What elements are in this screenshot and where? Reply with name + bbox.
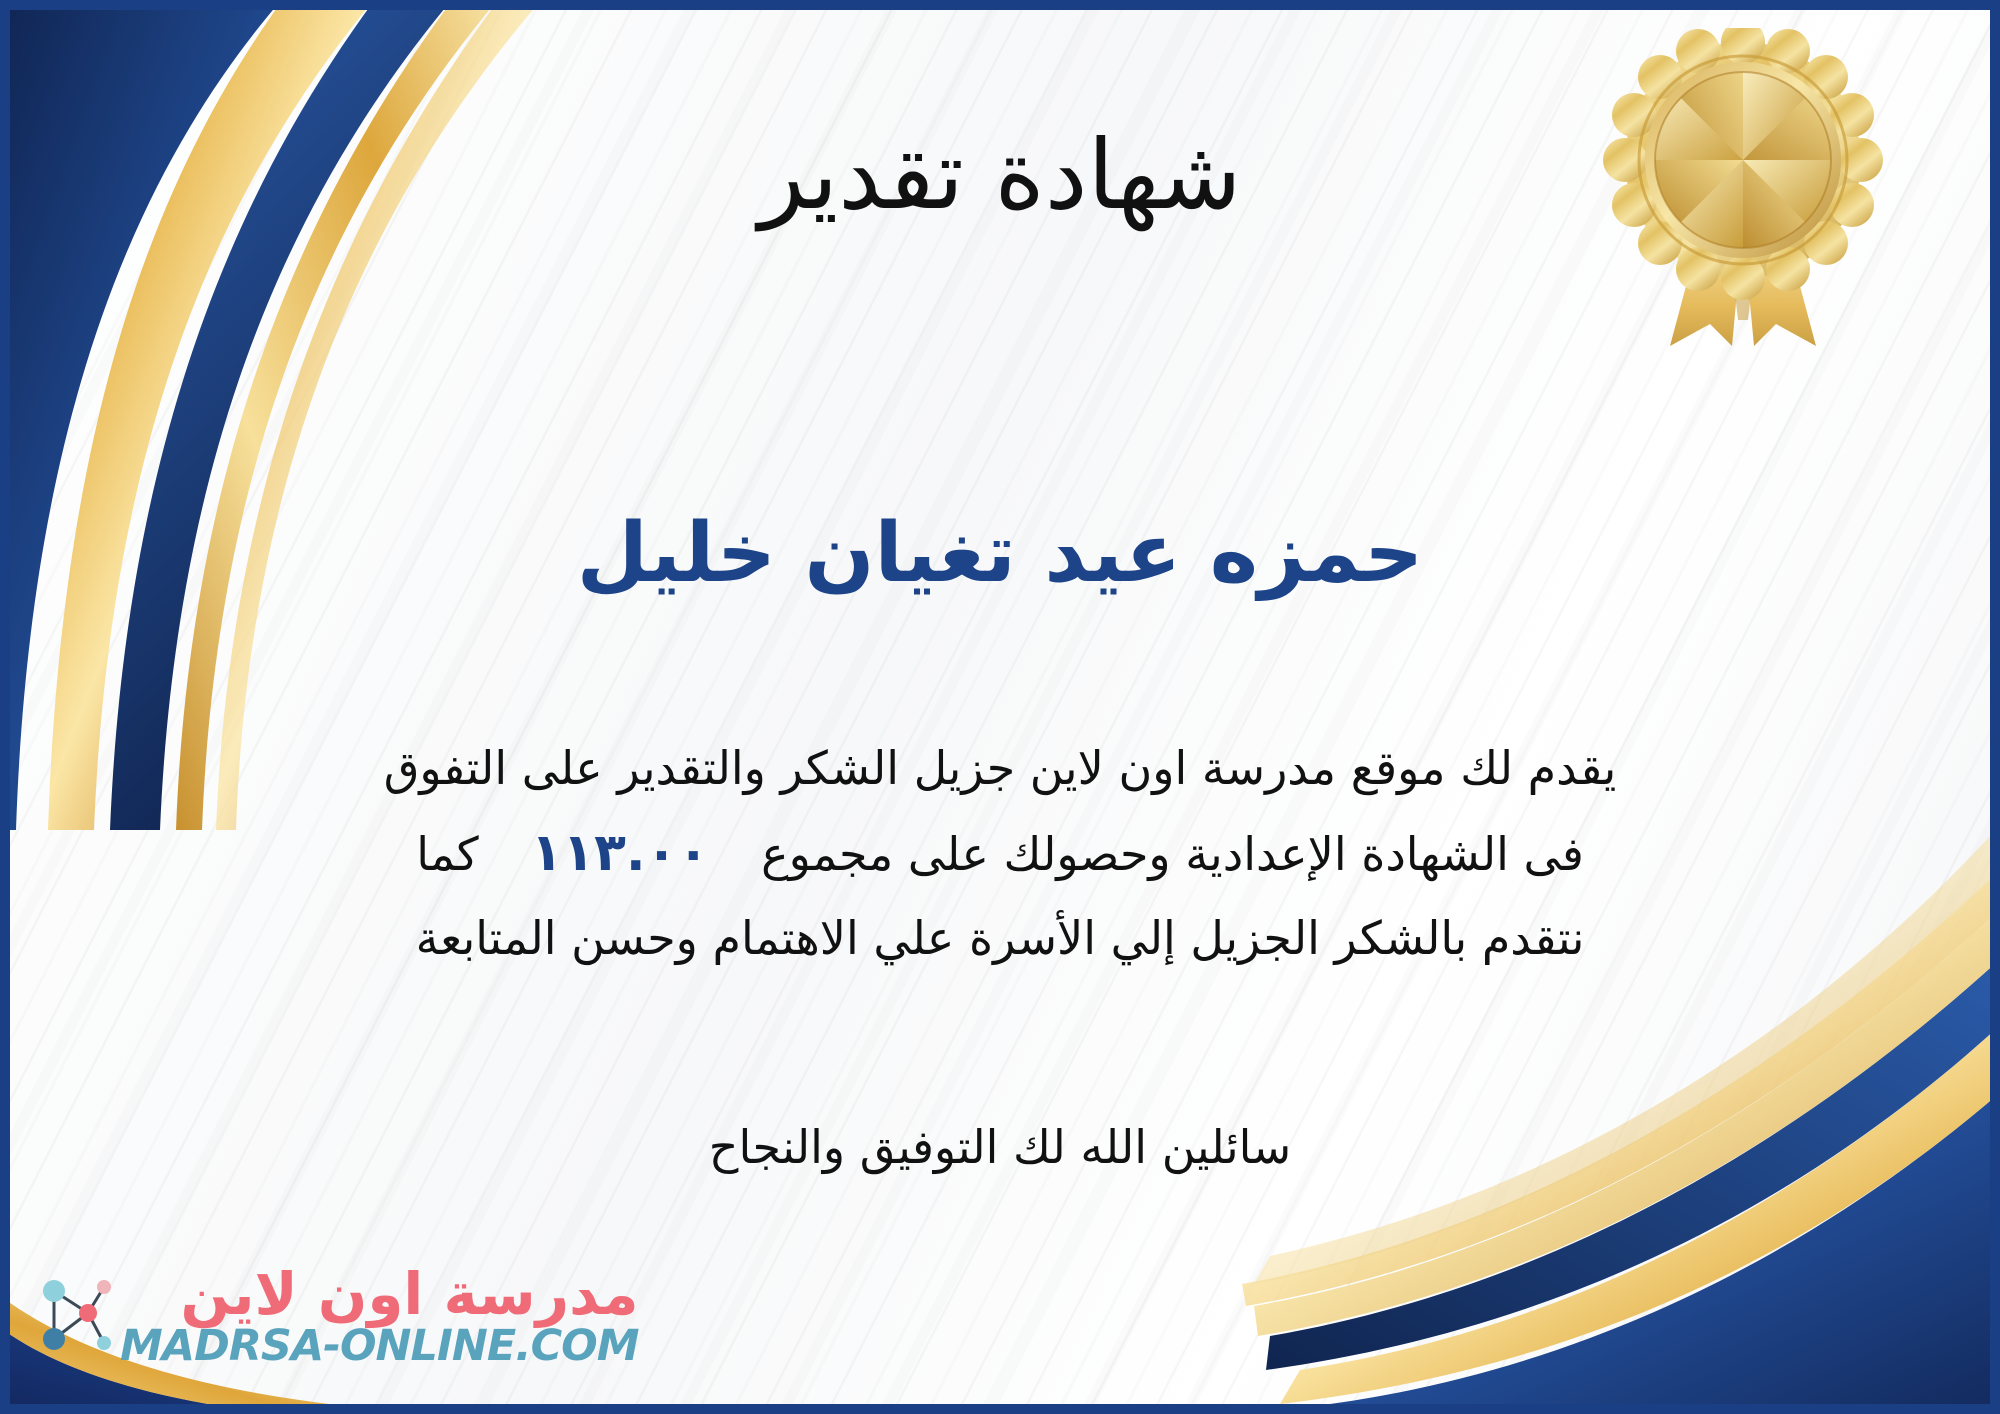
logo-arabic-name: مدرسة اون لاين — [181, 1265, 639, 1324]
body-line-2-right: فى الشهادة الإعدادية وحصولك على مجموع — [761, 827, 1584, 881]
closing-line: سائلين الله لك التوفيق والنجاح — [0, 1120, 2000, 1174]
logo-domain: MADRSA-ONLINE.COM — [120, 1324, 639, 1369]
recipient-name: حمزه عيد تغيان خليل — [0, 505, 2000, 603]
body-line-3: نتقدم بالشكر الجزيل إلي الأسرة علي الاهت… — [60, 905, 1940, 972]
logo-text-block: مدرسة اون لاين MADRSA-ONLINE.COM — [120, 1265, 639, 1369]
certificate-title: شهادة تقدير — [0, 120, 2000, 230]
body-line-2: فى الشهادة الإعدادية وحصولك على مجموع١١٣… — [60, 816, 1940, 891]
certificate-canvas: شهادة تقدير حمزه عيد تغيان خليل يقدم لك … — [0, 0, 2000, 1414]
certificate-body: يقدم لك موقع مدرسة اون لاين جزيل الشكر و… — [60, 735, 1940, 986]
body-line-1: يقدم لك موقع مدرسة اون لاين جزيل الشكر و… — [60, 735, 1940, 802]
site-logo[interactable]: مدرسة اون لاين MADRSA-ONLINE.COM — [34, 1242, 474, 1392]
body-line-2-left: كما — [416, 827, 479, 881]
network-nodes-icon — [34, 1269, 112, 1365]
score-value: ١١٣.٠٠ — [479, 816, 761, 891]
